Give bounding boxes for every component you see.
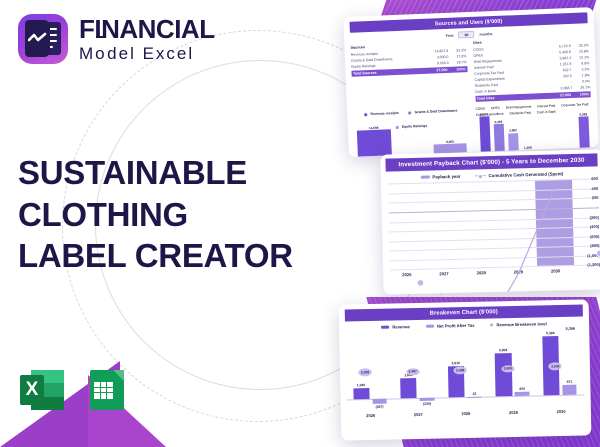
bar-group: 1,844(230)2,407 (393, 336, 442, 409)
bar-value-label: 6,724 (480, 112, 488, 116)
breakeven-level-node: 2,407 (406, 368, 419, 376)
legend-item: OPEX (491, 106, 500, 110)
brand-subtitle: M o del Excel (79, 45, 215, 62)
toolbar-label-first: First (446, 33, 454, 37)
sources-column: Sources Revenue receipts14,807.853.3%Gra… (350, 42, 468, 108)
bar-value-label: 1,268 (524, 145, 532, 149)
panel-breakeven-chart[interactable]: Breakeven Chart ($'000) Revenue Net Prof… (339, 299, 592, 440)
breakeven-level-node: 2,436 (454, 367, 467, 375)
payback-data-points (388, 177, 600, 295)
excel-letter: X (20, 375, 44, 405)
legend-item: Corporate Tax Paid (561, 103, 588, 108)
bar-value-label: 5,469 (494, 120, 502, 124)
headline-line-2: CLOTHING (18, 194, 293, 236)
legend-payback-year: Payback year (420, 174, 460, 180)
panel-sources-and-uses[interactable]: Sources and Uses ($'000) First 60 months… (343, 7, 598, 157)
payback-plot-area: 600400200-(200)(400)(600)(800)(1,000)(1,… (388, 179, 574, 269)
bar-group: 3,9044042,505 (488, 334, 537, 407)
bar: 6,724 (479, 117, 491, 157)
brand-subtitle-post: del Excel (107, 45, 194, 62)
payback-title: Investment Payback Chart ($'000) - 5 Yea… (385, 153, 597, 172)
legend-item: Grants & Debt Drawdowns (409, 109, 458, 115)
toolbar-label-months: months (479, 32, 492, 37)
uses-column: Uses COGS6,723.928.2%OPEX5,468.819.8%Deb… (473, 37, 591, 103)
bar-group: 1,040(467)2,439 (345, 337, 394, 410)
bar-group: 2,816422,436 (440, 335, 489, 408)
wave-chart-icon (28, 32, 47, 44)
bar-revenue: 1,040 (353, 388, 369, 400)
bar-revenue: 3,904 (495, 353, 512, 396)
legend-revenue: Revenue (381, 324, 410, 330)
legend-item: Interest Paid (537, 104, 555, 109)
bar-value-label: 14,808 (369, 126, 379, 130)
breakeven-level-node: 2,633 (549, 362, 562, 370)
uses-total-value: 27,000 (545, 93, 571, 98)
months-input[interactable]: 60 (458, 31, 474, 39)
breakeven-plot-area: 1,040(467)2,4391,844(230)2,4072,816422,4… (345, 333, 584, 410)
sources-total-pct: 100% (447, 68, 465, 73)
bar-revenue: 1,844 (400, 378, 417, 399)
bar-net-profit: (467) (372, 399, 386, 404)
breakeven-level-node: 2,505 (501, 365, 514, 373)
bar: 14,808 (357, 130, 393, 157)
uses-total-label: Total Uses (477, 94, 546, 101)
breakeven-level-node: 2,439 (358, 368, 371, 376)
legend-net-profit: Net Profit After Tax (426, 323, 475, 329)
financial-model-excel-logo-icon (18, 14, 68, 64)
microsoft-excel-icon: X (20, 368, 64, 412)
headline-line-3: LABEL CREATOR (18, 235, 293, 277)
bar-value-label: 9,000 (446, 139, 454, 143)
page-title: SUSTAINABLE CLOTHING LABEL CREATOR (18, 152, 293, 277)
sources-total-value: 27,000 (421, 68, 447, 73)
google-sheets-icon (86, 368, 130, 412)
legend-item: Debt Repayments (506, 105, 532, 110)
legend-item: Dividends Paid (510, 111, 531, 116)
legend-item: Cash in Bank (537, 110, 556, 115)
legend-item: Revenue receipts (364, 111, 398, 116)
breakeven-title: Breakeven Chart ($'000) (345, 305, 583, 322)
panel-investment-payback[interactable]: Investment Payback Chart ($'000) - 5 Yea… (380, 149, 600, 294)
brand-title: FINANCIAL (79, 16, 215, 42)
lightbulb-o-icon: o (95, 45, 107, 62)
uses-total-pct: 100% (571, 93, 589, 98)
bar-value-label: 3,982 (509, 129, 517, 133)
legend-item: COGS (476, 107, 486, 111)
bar-net-profit: 404 (515, 391, 529, 396)
sources-total-label: Total Sources (353, 69, 422, 76)
bar-value-label: 6,089 (579, 112, 587, 116)
poster-canvas: FINANCIAL M o del Excel SUSTAINABLE CLOT… (0, 0, 600, 447)
bar-net-profit: 42 (467, 396, 481, 397)
app-compatibility-icons: X (20, 368, 130, 412)
bar-net-profit: 971 (562, 384, 576, 395)
headline-line-1: SUSTAINABLE (18, 152, 293, 194)
brand-logo: FINANCIAL M o del Excel (18, 14, 215, 64)
legend-cumulative-cash: Cumulative Cash Generated (Spent) (474, 172, 563, 179)
brand-subtitle-pre: M (79, 45, 95, 62)
bar-net-profit: (230) (420, 398, 434, 401)
bar-group: 5,3669712,633 (536, 333, 585, 406)
